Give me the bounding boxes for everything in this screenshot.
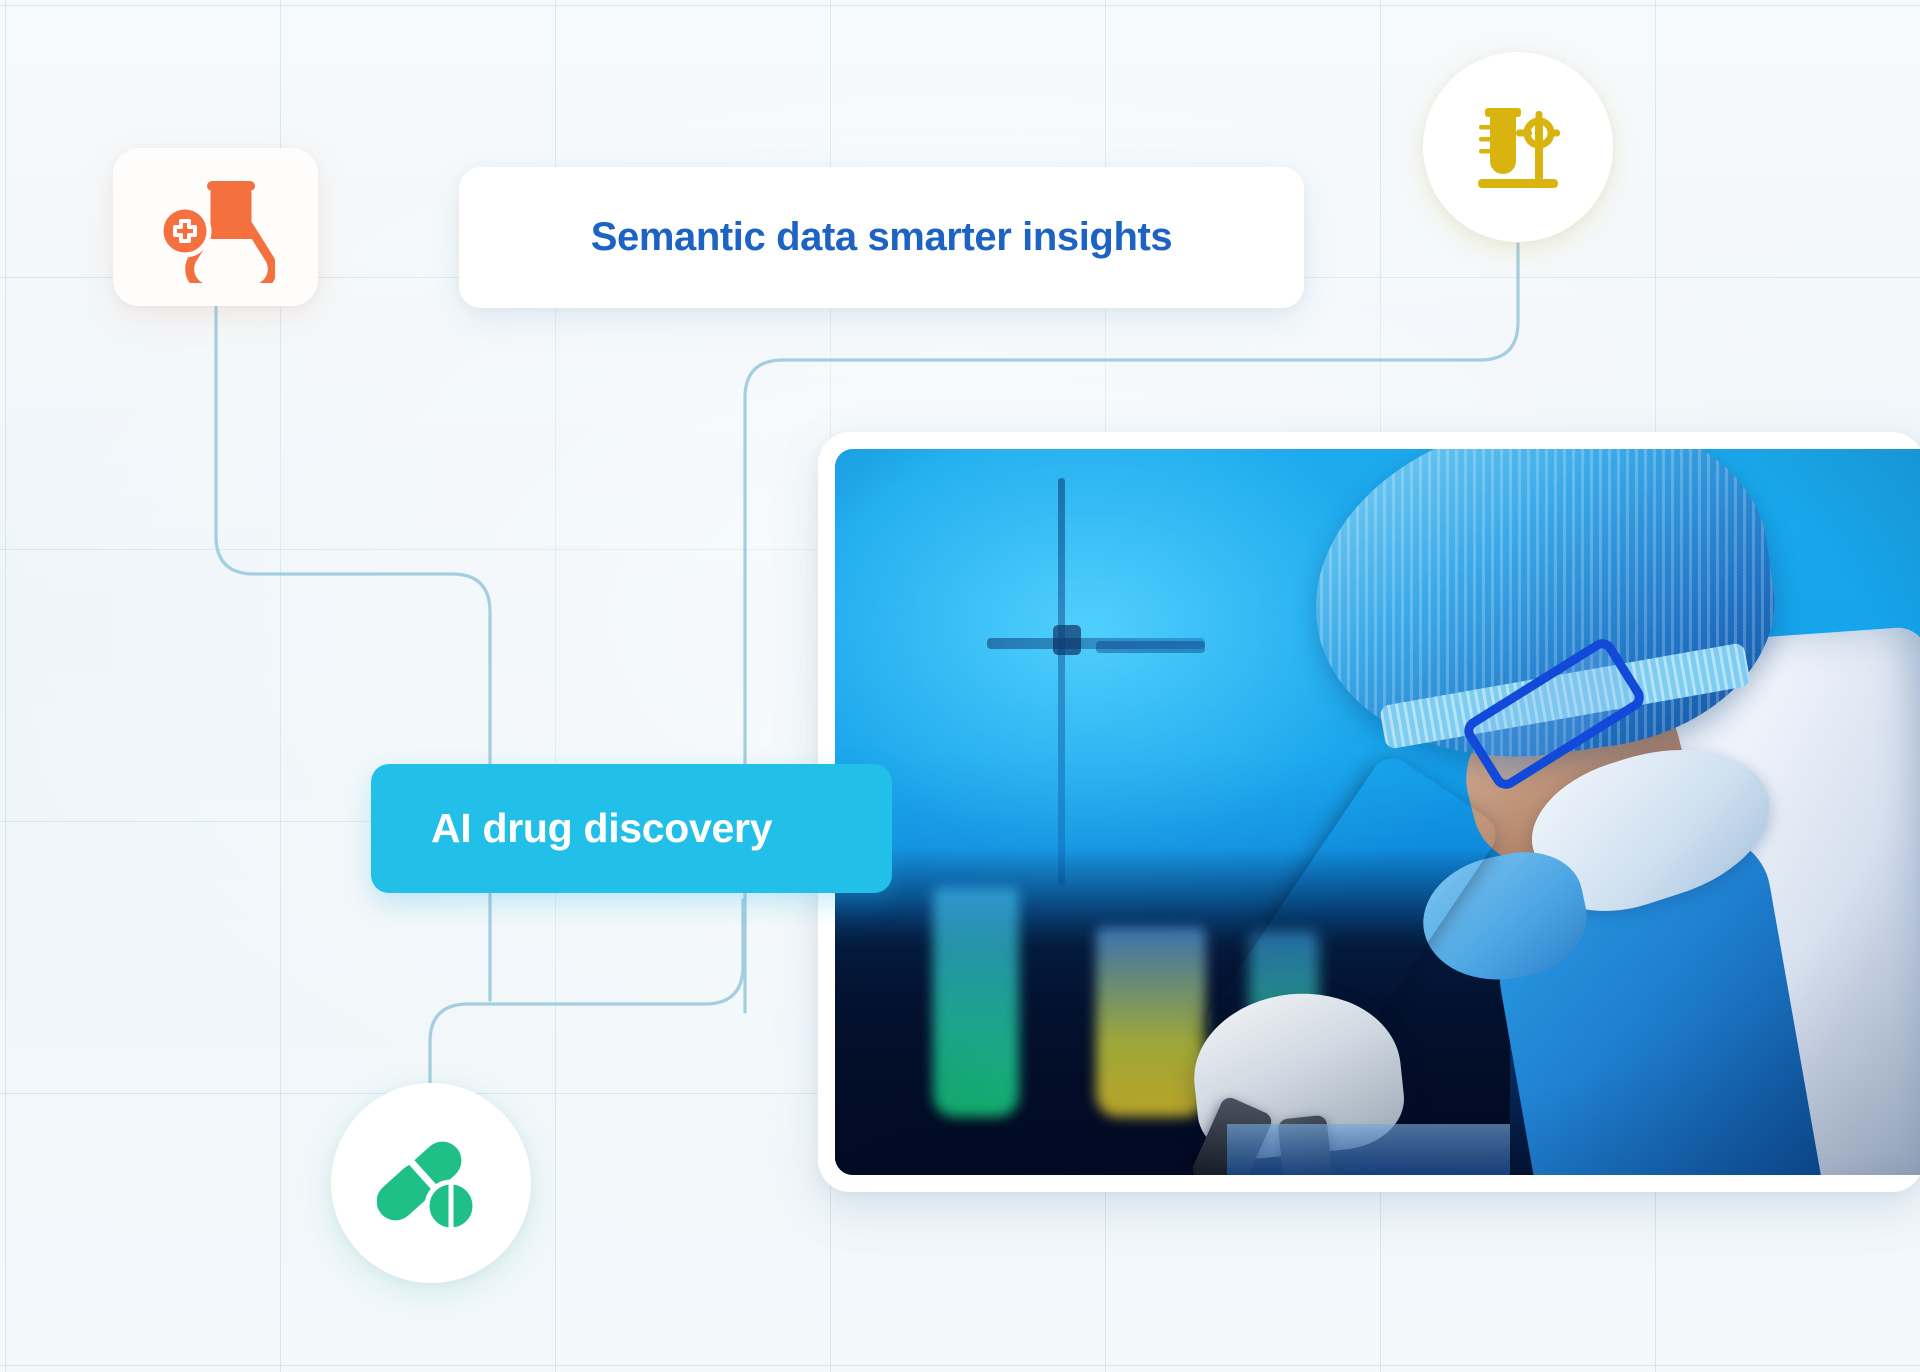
- test-tube-stand-icon: [1466, 95, 1570, 199]
- flask-plus-icon: [157, 171, 275, 283]
- ai-drug-discovery-label-text: AI drug discovery: [431, 805, 772, 852]
- ai-drug-discovery-label-pill[interactable]: AI drug discovery: [371, 764, 892, 893]
- microscope-photo: Researcher in blue surgical cap, mask an…: [835, 449, 1920, 1175]
- microscope-photo-card: Researcher in blue surgical cap, mask an…: [818, 432, 1920, 1192]
- pills-icon-badge[interactable]: Two capsules and a round scored tablet: [331, 1083, 531, 1283]
- semantic-insights-label-text: Semantic data smarter insights: [591, 215, 1173, 260]
- semantic-insights-label-pill[interactable]: Semantic data smarter insights: [459, 167, 1304, 308]
- test-tube-icon-badge[interactable]: Graduated test tube held in a laboratory…: [1423, 52, 1613, 242]
- pills-capsule-icon: [377, 1129, 485, 1237]
- flask-icon-card[interactable]: Erlenmeyer flask with medical plus badge: [113, 148, 318, 306]
- infographic-canvas: Researcher in blue surgical cap, mask an…: [0, 0, 1920, 1372]
